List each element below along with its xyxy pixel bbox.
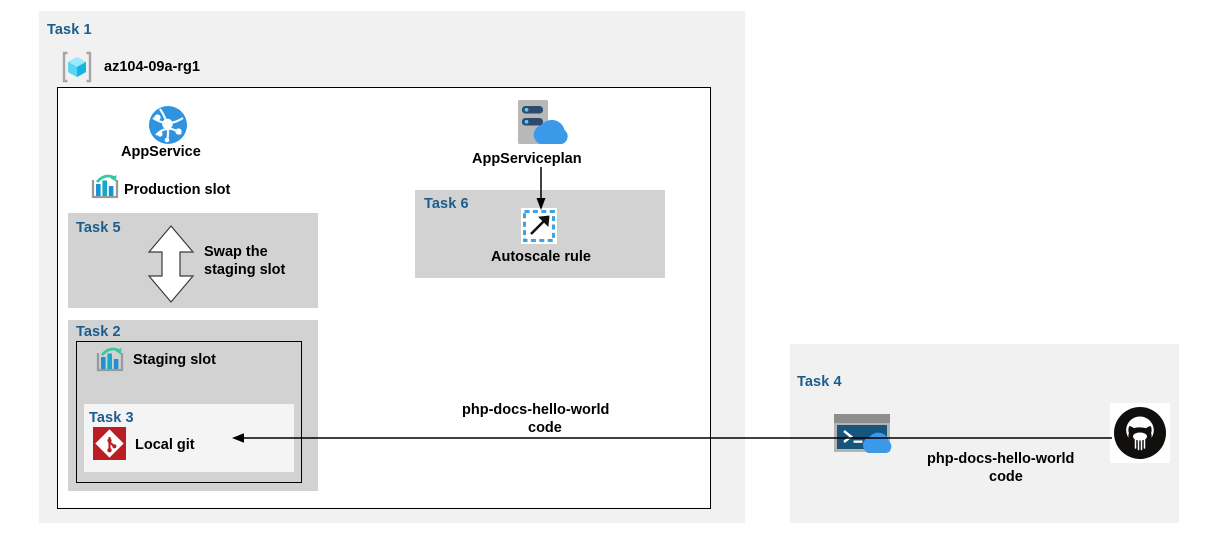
resource-group-label: az104-09a-rg1 bbox=[104, 58, 200, 76]
github-icon bbox=[1110, 403, 1170, 463]
task3-label: Task 3 bbox=[89, 410, 134, 426]
edge-label-github-to-shell-line2: code bbox=[989, 468, 1023, 486]
autoscale-rule-label: Autoscale rule bbox=[491, 248, 591, 266]
edge-label-shell-to-localgit-line2: code bbox=[528, 419, 562, 437]
diagram-canvas: Task 1 az104-09a-rg1 AppService bbox=[0, 0, 1218, 545]
task1-label: Task 1 bbox=[47, 22, 92, 38]
deployment-slot-icon-staging bbox=[95, 347, 125, 375]
cloud-shell-icon bbox=[832, 413, 898, 457]
app-service-icon bbox=[148, 105, 188, 145]
production-slot-label: Production slot bbox=[124, 181, 230, 199]
double-arrow-vertical-icon bbox=[145, 224, 197, 304]
deployment-slot-icon-production bbox=[90, 174, 120, 202]
swap-label-line1: Swap the bbox=[204, 243, 268, 261]
git-icon bbox=[93, 427, 126, 460]
task2-label: Task 2 bbox=[76, 324, 121, 340]
staging-slot-label: Staging slot bbox=[133, 351, 216, 369]
app-service-plan-icon bbox=[512, 98, 570, 150]
task5-label: Task 5 bbox=[76, 220, 121, 236]
edge-label-github-to-shell-line1: php-docs-hello-world bbox=[927, 450, 1074, 468]
task6-label: Task 6 bbox=[424, 196, 469, 212]
edge-label-shell-to-localgit-line1: php-docs-hello-world bbox=[462, 401, 609, 419]
local-git-label: Local git bbox=[135, 436, 195, 454]
autoscale-icon bbox=[521, 208, 557, 244]
app-service-label: AppService bbox=[121, 143, 201, 161]
app-service-plan-label: AppServiceplan bbox=[472, 150, 582, 168]
task4-label: Task 4 bbox=[797, 374, 842, 390]
swap-label-line2: staging slot bbox=[204, 261, 285, 279]
resource-group-icon bbox=[60, 50, 94, 84]
